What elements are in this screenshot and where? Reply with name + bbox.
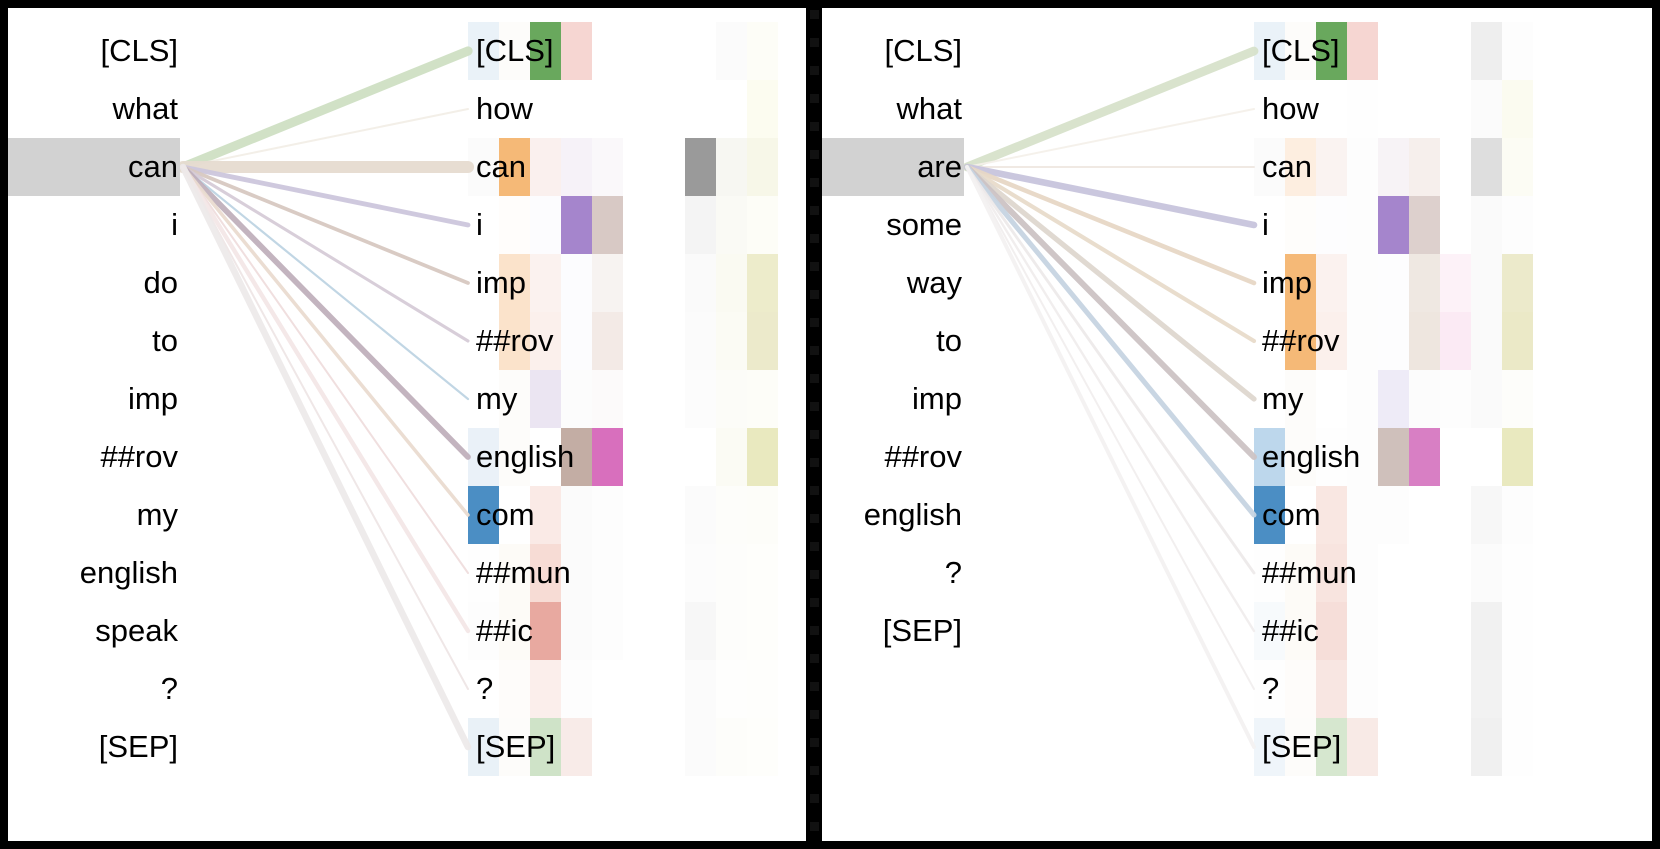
source-token[interactable]: ? [8,666,178,712]
divider-dot [810,262,819,271]
attention-heatmap-cell [1502,22,1533,80]
attention-heatmap-cell [1409,428,1440,486]
attention-heatmap-cell [1347,254,1378,312]
attention-heatmap-cell [530,138,561,196]
divider-dot [810,626,819,635]
attention-heatmap-cell [1316,254,1347,312]
attention-heatmap-cell [1502,718,1533,776]
attention-panel-right: [CLS]whataresomewaytoimp##rovenglish?[SE… [822,8,1652,841]
target-token[interactable]: imp [1262,260,1312,306]
attention-link-line [967,167,1254,225]
divider-dot [810,486,819,495]
source-token[interactable]: [CLS] [8,28,178,74]
target-token[interactable]: i [476,202,483,248]
attention-heatmap-cell [685,196,716,254]
attention-heatmap-cell [1285,196,1316,254]
attention-heatmap-cell [1502,138,1533,196]
attention-heatmap-cell [1409,254,1440,312]
target-token[interactable]: ##rov [1262,318,1340,364]
attention-heatmap-cell [716,22,747,80]
divider-dot [810,206,819,215]
attention-heatmap-cell [592,312,623,370]
attention-heatmap-cell [1502,660,1533,718]
attention-heatmap-cell [1471,370,1502,428]
target-token[interactable]: ? [1262,666,1279,712]
divider-dot [810,10,819,19]
divider-dot [810,710,819,719]
attention-heatmap-cell [1378,196,1409,254]
source-token[interactable]: ? [822,550,962,596]
attention-heatmap-cell [747,370,778,428]
divider-dot [810,654,819,663]
source-token[interactable]: [SEP] [822,608,962,654]
attention-heatmap-cell [1347,312,1378,370]
source-token[interactable]: to [822,318,962,364]
attention-heatmap-cell [1471,312,1502,370]
divider-dot [810,290,819,299]
attention-heatmap-cell [1316,660,1347,718]
attention-link-line [967,167,1254,631]
source-token[interactable]: can [8,144,178,190]
attention-link-line [183,167,468,515]
attention-heatmap-cell [747,602,778,660]
attention-link-line [183,167,468,283]
source-token[interactable]: english [8,550,178,596]
attention-heatmap-cell [1471,196,1502,254]
attention-heatmap-cell [530,486,561,544]
divider-dot [810,458,819,467]
attention-link-line [183,167,468,689]
attention-heatmap-cell [1347,196,1378,254]
target-token[interactable]: ##mun [1262,550,1357,596]
attention-heatmap-cell [561,602,592,660]
attention-heatmap-cell [1471,80,1502,138]
attention-heatmap-cell [747,718,778,776]
source-token[interactable]: my [8,492,178,538]
target-token[interactable]: ##rov [476,318,554,364]
target-token[interactable]: i [1262,202,1269,248]
attention-link-line [183,167,468,399]
attention-heatmap-cell [592,370,623,428]
attention-heatmap-cell [1316,138,1347,196]
attention-heatmap-cell [1440,370,1471,428]
attention-heatmap-cell [747,254,778,312]
source-token[interactable]: imp [822,376,962,422]
target-token[interactable]: [CLS] [476,28,554,74]
attention-heatmap-cell [747,660,778,718]
attention-heatmap-cell [499,660,530,718]
attention-heatmap-cell [561,370,592,428]
attention-heatmap-cell [1440,312,1471,370]
source-token[interactable]: speak [8,608,178,654]
divider-dot [810,514,819,523]
attention-heatmap-cell [685,660,716,718]
attention-heatmap-cell [1471,254,1502,312]
divider-dot [810,150,819,159]
attention-heatmap-cell [530,196,561,254]
attention-heatmap-cell [561,660,592,718]
divider-dot [810,38,819,47]
attention-heatmap-cell [747,312,778,370]
attention-heatmap-cell [716,428,747,486]
attention-heatmap-cell [1378,254,1409,312]
attention-heatmap-cell [592,486,623,544]
attention-heatmap-cell [747,138,778,196]
divider-dot [810,822,819,831]
target-token[interactable]: how [1262,86,1319,132]
attention-heatmap-cell [1347,602,1378,660]
attention-heatmap-cell [747,80,778,138]
divider-dot [810,794,819,803]
attention-heatmap-cell [561,486,592,544]
attention-link-line [967,167,1254,457]
divider-dot [810,766,819,775]
attention-heatmap-cell [1378,428,1409,486]
divider-dot [810,542,819,551]
attention-heatmap-cell [1316,486,1347,544]
source-token[interactable]: do [8,260,178,306]
divider-dot [810,94,819,103]
attention-heatmap-cell [685,544,716,602]
target-token[interactable]: [SEP] [1262,724,1341,770]
attention-heatmap-cell [592,138,623,196]
attention-heatmap-cell [592,544,623,602]
attention-heatmap-cell [685,486,716,544]
attention-panel-left: [CLS]whatcanidotoimp##rovmyenglishspeak?… [8,8,808,841]
attention-heatmap-cell [716,312,747,370]
attention-heatmap-cell [685,370,716,428]
target-token[interactable]: [SEP] [476,724,555,770]
target-token[interactable]: ? [476,666,493,712]
attention-heatmap-cell [1502,428,1533,486]
target-token[interactable]: my [476,376,517,422]
source-token[interactable]: way [822,260,962,306]
attention-link-line [183,109,468,167]
attention-link-line [967,51,1254,167]
attention-heatmap-cell [1378,370,1409,428]
attention-heatmap-cell [716,486,747,544]
attention-link-line [967,167,1254,515]
attention-heatmap-cell [1471,138,1502,196]
divider-dot [810,682,819,691]
attention-link-line [967,167,1254,399]
attention-heatmap-cell [716,370,747,428]
attention-heatmap-cell [747,486,778,544]
attention-heatmap-cell [1502,602,1533,660]
target-token[interactable]: english [1262,434,1360,480]
attention-heatmap-cell [1316,602,1347,660]
divider-dot [810,66,819,75]
attention-heatmap-cell [1378,138,1409,196]
attention-heatmap-cell [1502,544,1533,602]
source-token[interactable]: are [822,144,962,190]
attention-heatmap-cell [1471,486,1502,544]
source-token[interactable]: some [822,202,962,248]
attention-heatmap-cell [747,428,778,486]
target-token[interactable]: imp [476,260,526,306]
attention-heatmap-cell [530,602,561,660]
attention-link-line [183,167,468,457]
target-token[interactable]: can [1262,144,1312,190]
attention-heatmap-cell [1347,22,1378,80]
target-token[interactable]: ##ic [476,608,533,654]
attention-heatmap-cell [1347,138,1378,196]
source-token[interactable]: i [8,202,178,248]
attention-heatmap-cell [1378,486,1409,544]
attention-link-line [967,167,1254,341]
divider-dot [810,318,819,327]
attention-heatmap-cell [1471,660,1502,718]
attention-heatmap-cell [561,22,592,80]
source-token[interactable]: english [822,492,962,538]
attention-link-line [967,167,1254,283]
target-token[interactable]: ##mun [476,550,571,596]
attention-heatmap-cell [561,196,592,254]
divider-dot [810,374,819,383]
source-token[interactable]: to [8,318,178,364]
attention-heatmap-cell [685,254,716,312]
attention-heatmap-cell [1409,370,1440,428]
source-token[interactable]: ##rov [8,434,178,480]
attention-heatmap-cell [499,196,530,254]
attention-heatmap-cell [1347,660,1378,718]
attention-heatmap-cell [1409,138,1440,196]
attention-heatmap-cell [747,544,778,602]
target-token[interactable]: com [1262,492,1321,538]
attention-heatmap-cell [561,312,592,370]
attention-link-line [183,167,468,341]
attention-heatmap-cell [592,196,623,254]
source-token[interactable]: what [822,86,962,132]
attention-link-line [183,51,468,167]
attention-heatmap-cell [1471,602,1502,660]
target-token[interactable]: can [476,144,526,190]
attention-heatmap-cell [1347,370,1378,428]
attention-heatmap-cell [747,22,778,80]
attention-heatmap-cell [685,602,716,660]
attention-heatmap-cell [1347,718,1378,776]
attention-link-line [967,167,1254,573]
attention-heatmap-cell [716,544,747,602]
attention-heatmap-cell [1471,718,1502,776]
attention-heatmap-cell [747,196,778,254]
divider-dot [810,598,819,607]
attention-heatmap-cell [716,138,747,196]
target-token[interactable]: com [476,492,535,538]
attention-heatmap-cell [592,254,623,312]
attention-heatmap-cell [1471,544,1502,602]
attention-heatmap-cell [1502,486,1533,544]
attention-link-line [183,167,468,573]
divider-dot [810,234,819,243]
source-token[interactable]: imp [8,376,178,422]
attention-heatmap-cell [561,718,592,776]
attention-heatmap-cell [1316,196,1347,254]
divider-dot [810,122,819,131]
attention-heatmap-cell [716,660,747,718]
attention-link-line [967,167,1254,689]
attention-link-line [967,167,1254,747]
attention-link-line [183,167,468,225]
divider-dot [810,402,819,411]
panel-divider-dotted [806,8,820,841]
attention-heatmap-cell [561,254,592,312]
attention-heatmap-cell [1502,80,1533,138]
attention-heatmap-cell [1440,254,1471,312]
attention-heatmap-cell [716,602,747,660]
attention-heatmap-cell [1409,196,1440,254]
source-token[interactable]: [CLS] [822,28,962,74]
attention-heatmap-cell [1316,370,1347,428]
attention-heatmap-cell [685,312,716,370]
attention-heatmap-cell [1378,312,1409,370]
source-token[interactable]: [SEP] [8,724,178,770]
divider-dot [810,430,819,439]
attention-heatmap-cell [1502,254,1533,312]
attention-heatmap-cell [592,602,623,660]
attention-heatmap-cell [1347,486,1378,544]
attention-heatmap-cell [1502,312,1533,370]
attention-heatmap-cell [1502,196,1533,254]
target-token[interactable]: [CLS] [1262,28,1340,74]
attention-heatmap-cell [1471,22,1502,80]
target-token[interactable]: english [476,434,574,480]
attention-heatmap-cell [1502,370,1533,428]
attention-heatmap-cell [1285,660,1316,718]
attention-link-line [183,167,468,747]
attention-heatmap-cell [716,196,747,254]
attention-heatmap-cell [1409,312,1440,370]
source-token[interactable]: ##rov [822,434,962,480]
target-token[interactable]: ##ic [1262,608,1319,654]
attention-heatmap-cell [530,370,561,428]
attention-heatmap-cell [561,138,592,196]
attention-heatmap-cell [530,254,561,312]
divider-dot [810,570,819,579]
attention-link-line [967,109,1254,167]
divider-dot [810,178,819,187]
attention-visualization-root: [CLS]whatcanidotoimp##rovmyenglishspeak?… [0,0,1660,849]
source-token[interactable]: what [8,86,178,132]
attention-link-line [183,167,468,631]
attention-heatmap-cell [592,428,623,486]
attention-heatmap-cell [1347,80,1378,138]
target-token[interactable]: how [476,86,533,132]
attention-heatmap-cell [716,254,747,312]
attention-heatmap-cell [685,138,716,196]
attention-heatmap-cell [716,718,747,776]
divider-dot [810,738,819,747]
attention-heatmap-cell [685,718,716,776]
target-token[interactable]: my [1262,376,1303,422]
attention-heatmap-cell [530,660,561,718]
divider-dot [810,346,819,355]
